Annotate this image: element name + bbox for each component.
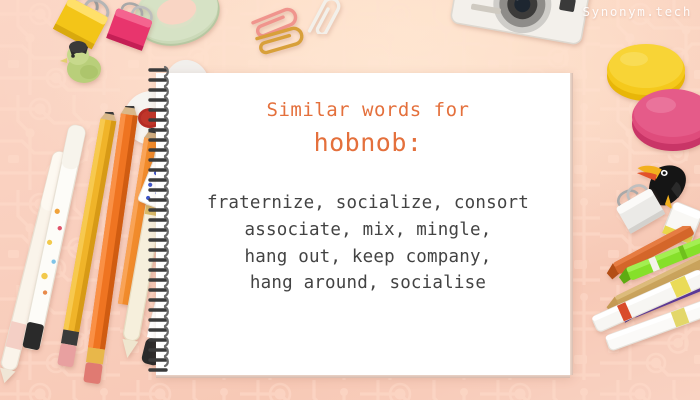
paper-clip-gold	[248, 22, 314, 56]
notepad-content: Similar words for hobnob: fraternize, so…	[176, 73, 560, 297]
heading-prefix: Similar words for	[176, 99, 560, 123]
desk-scene: Similar words for hobnob: fraternize, so…	[0, 0, 700, 400]
synonym-line-2: associate, mix, mingle,	[176, 217, 560, 244]
spiral-binding	[148, 64, 174, 374]
synonym-line-1: fraternize, socialize, consort	[176, 190, 560, 217]
macaron-pink	[625, 72, 700, 154]
brand-watermark: Synonym.tech	[582, 4, 692, 19]
marker-white-2	[600, 292, 700, 366]
headword: hobnob:	[176, 127, 560, 158]
camera	[436, 0, 606, 58]
synonym-line-4: hang around, socialise	[176, 270, 560, 297]
notepad-right-edge	[570, 73, 573, 375]
notepad-bottom-edge	[156, 375, 570, 378]
synonym-line-3: hang out, keep company,	[176, 244, 560, 271]
synonym-list: fraternize, socialize, consort associate…	[176, 190, 560, 297]
bird-figurine	[56, 36, 112, 88]
